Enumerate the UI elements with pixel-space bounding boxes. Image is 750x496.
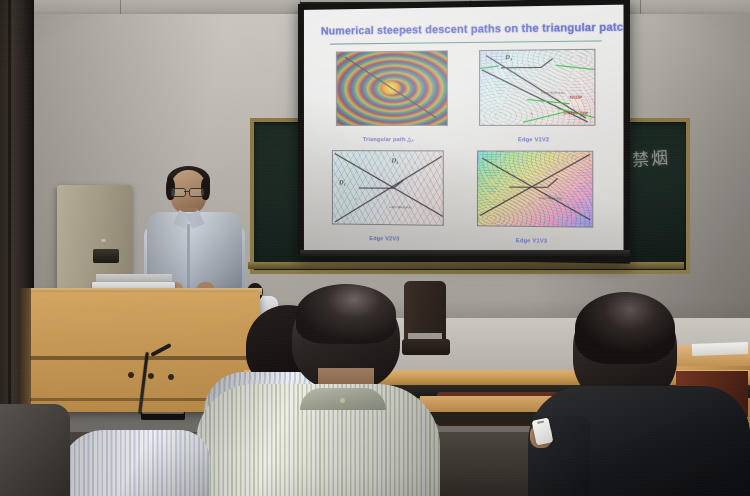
presenter-glasses-right-lens — [189, 188, 204, 197]
presenter-glasses-left-lens — [171, 188, 186, 197]
plot-3-region-label-d2: D₂ — [391, 157, 398, 164]
papers-on-desk[interactable] — [692, 342, 748, 356]
plot-2-eq-label: Im(z)=−Re(z)+k₁/k₂ — [541, 92, 564, 95]
plot-3-axes: D₂ D₁ Im(z)=−Re(z)+k₁/k₂ zₐ Re(z) Im(z) — [332, 150, 444, 226]
audience-member-striped-shirt-shading — [196, 384, 440, 496]
plot-3-caption: Edge V2V3 — [318, 235, 452, 243]
audience-member-striped-shirt-hair — [296, 284, 396, 344]
plot-4-eq-label: Im(z)=−Re(z)+k₁/k₂ — [539, 197, 562, 200]
podium-hole-1 — [128, 372, 134, 378]
audience-member-dark-jacket-hair — [575, 292, 675, 364]
plot-2: D₁ D₂ Im(z)=−Re(z)+k₁/k₂ zₐ Re(z) Im(z) … — [464, 47, 604, 143]
podium-hole-2 — [148, 373, 154, 379]
slide-title: Numerical steepest descent paths on the … — [321, 21, 615, 37]
podium-left-edge — [20, 288, 31, 416]
foreground-seat-back — [0, 404, 70, 496]
plot-1-caption: Triangular path △₁ — [322, 137, 456, 143]
legend-label-nsdp: NSDP — [570, 95, 582, 100]
presenter-glasses-bridge — [184, 191, 189, 192]
air-conditioner-logo — [101, 239, 106, 242]
plot-2-xlabel: Re(z) — [585, 125, 593, 126]
plot-3-region-label-d1: D₁ — [339, 179, 346, 186]
title-underline — [330, 40, 602, 45]
slide-plot-grid: z0 Triangular path △₁ D₁ — [318, 47, 608, 245]
plot-1-axes: z0 — [336, 50, 448, 126]
plot-3-v-label: zₐ — [355, 198, 357, 201]
plot-1-saddle-label: z0 — [389, 86, 392, 91]
projection-screen[interactable]: Numerical steepest descent paths on the … — [298, 0, 630, 264]
legend-label-stokes: Stokes' line — [563, 110, 588, 115]
plot-2-caption: Edge V1V2 — [464, 137, 604, 143]
podium-hole-3 — [168, 374, 174, 380]
plot-4-caption: Edge V1V3 — [462, 237, 602, 245]
chair-seat — [402, 339, 450, 355]
plot-4-v-label: zₐ — [503, 199, 505, 202]
plot-4-xlabel: Re(z) — [583, 227, 591, 228]
plot-3-eq-label: Im(z)=−Re(z)+k₁/k₂ — [389, 206, 411, 209]
presentation-slide: Numerical steepest descent paths on the … — [304, 5, 624, 256]
plot-1: z0 Triangular path △₁ — [322, 48, 456, 142]
screen-bottom-bar — [300, 250, 630, 258]
plot-4: Im(z)=−Re(z)+k₁/k₂ zₐ Re(z) Im(z) Edge V… — [462, 148, 602, 244]
plot-4-axes: Im(z)=−Re(z)+k₁/k₂ zₐ Re(z) Im(z) — [477, 150, 593, 227]
lecture-room-photo: 室内禁烟 · · Numerical steepest descent path… — [0, 0, 750, 496]
classroom-chair[interactable] — [404, 281, 448, 376]
plot-3: D₂ D₁ Im(z)=−Re(z)+k₁/k₂ zₐ Re(z) Im(z) … — [318, 148, 452, 242]
audience-member-foreground-left-shading — [60, 430, 210, 496]
air-conditioner-control-panel[interactable] — [93, 249, 119, 263]
plot-2-v-label: zₐ — [530, 112, 532, 115]
plot-3-xlabel: Re(z) — [434, 225, 442, 226]
plot-2-region-label-d1: D₁ — [505, 54, 512, 61]
